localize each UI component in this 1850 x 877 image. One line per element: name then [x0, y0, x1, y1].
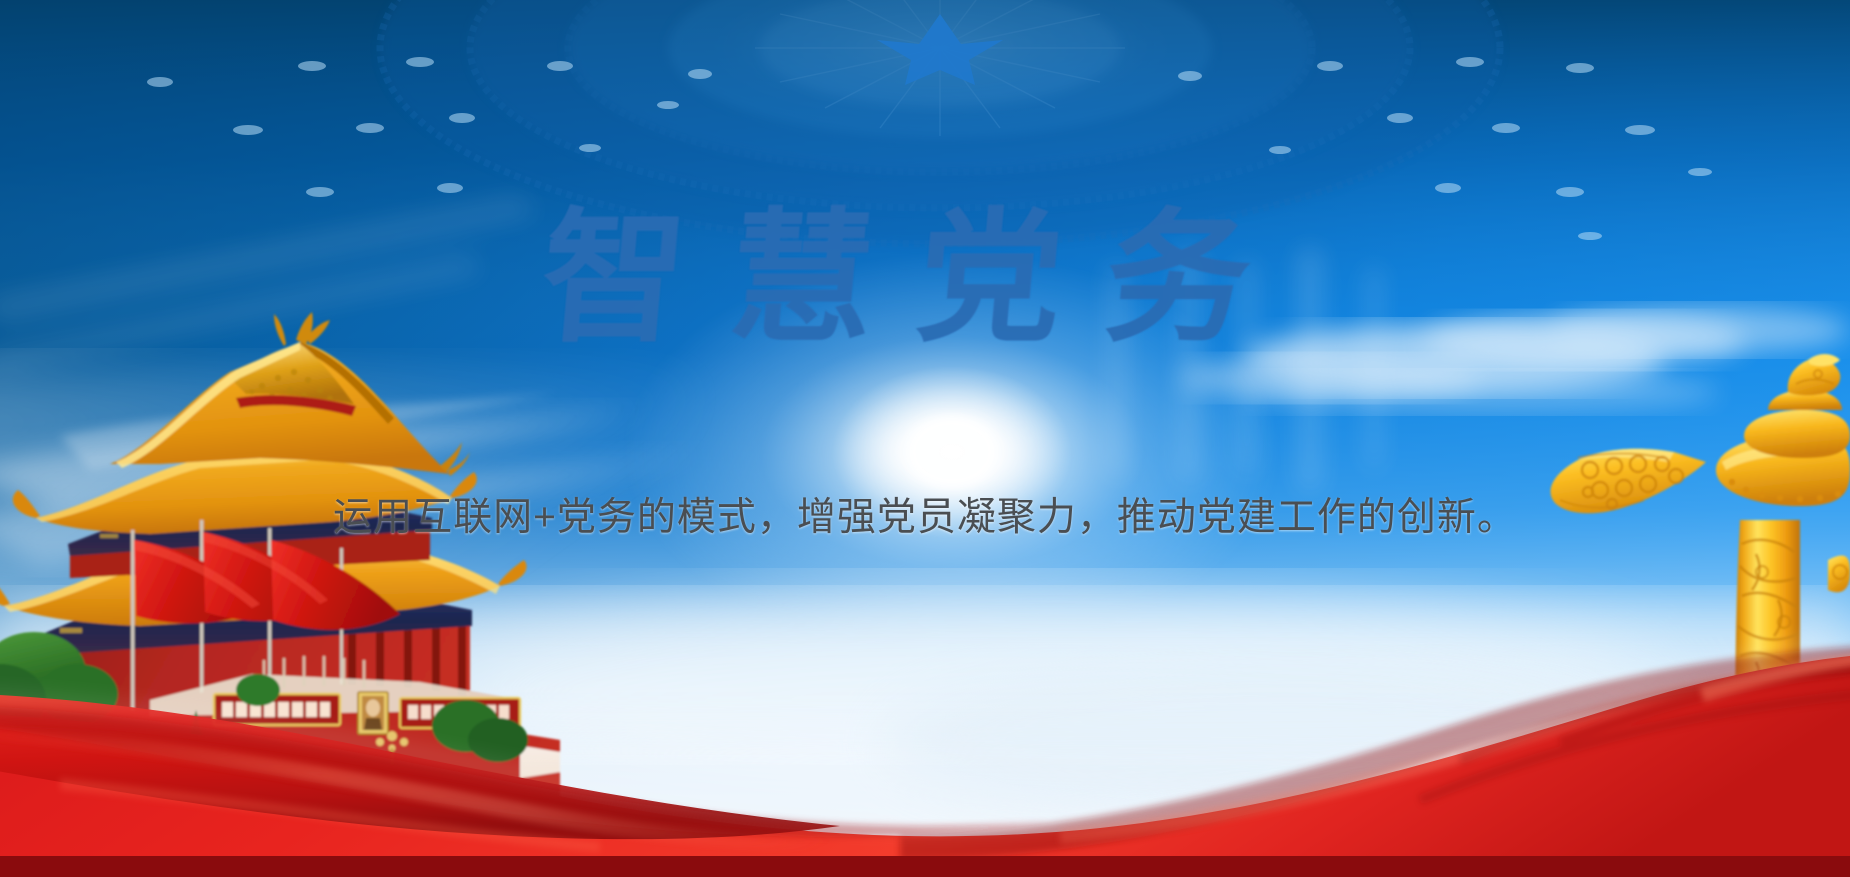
- red-ribbon-layer: [0, 0, 1850, 877]
- red-silk-ribbon: [0, 636, 1850, 877]
- hero-banner: 智慧党务 运用互联网+党务的模式，增强党员凝聚力，推动党建工作的创新。: [0, 0, 1850, 877]
